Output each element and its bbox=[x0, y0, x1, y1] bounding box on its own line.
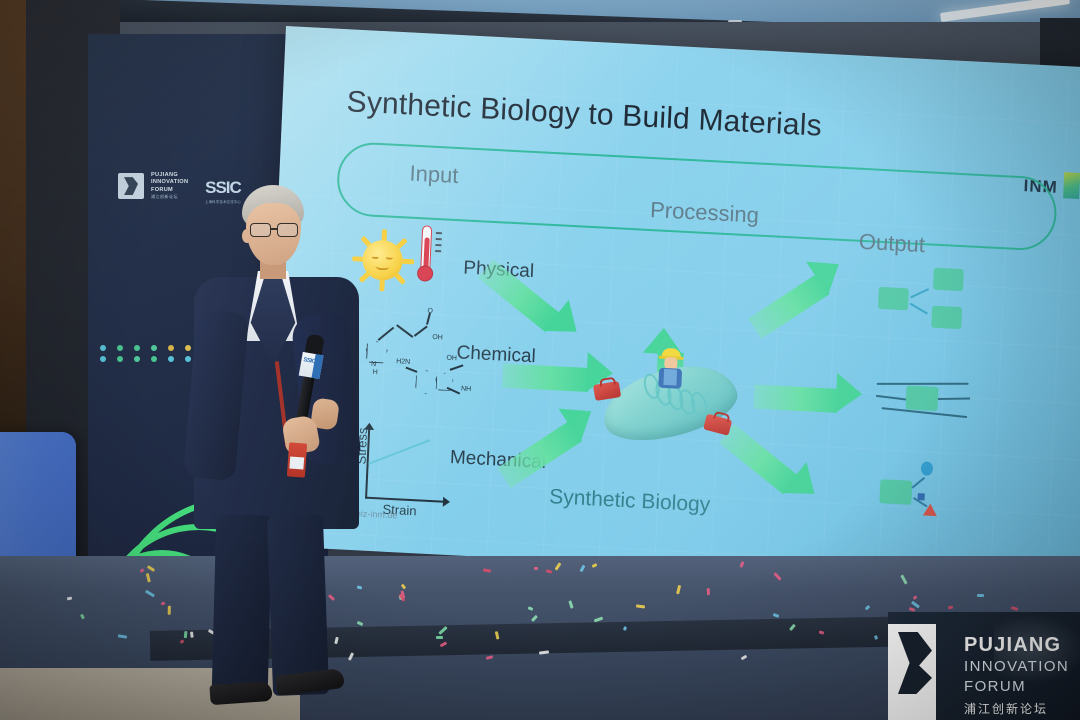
corner-logo-line-1: PUJIANG bbox=[964, 634, 1061, 657]
thermometer-icon bbox=[415, 225, 438, 288]
decor-dot bbox=[151, 345, 157, 351]
pujiang-mark-icon bbox=[118, 173, 144, 199]
pipeline-label-output: Output bbox=[858, 229, 925, 258]
name-badge bbox=[287, 442, 307, 477]
inm-logo-mark-icon bbox=[1063, 172, 1080, 199]
projection-screen: Synthetic Biology to Build Materials INM… bbox=[263, 26, 1080, 588]
presentation-scene: PUJIANG INNOVATION FORUM 浦江创新论坛 SSIC 上海科… bbox=[0, 0, 1080, 720]
wall-logo-pujiang-left: PUJIANG INNOVATION FORUM 浦江创新论坛 bbox=[118, 172, 188, 200]
decor-dot bbox=[117, 356, 123, 362]
output-icon-nodes bbox=[879, 459, 961, 521]
pipeline-label-processing: Processing bbox=[650, 197, 760, 229]
worker-figure-icon bbox=[654, 347, 686, 391]
eyeglasses-icon bbox=[250, 223, 302, 237]
corner-logo-line-3: FORUM bbox=[964, 678, 1026, 695]
decor-dot bbox=[100, 356, 106, 362]
confetti-piece bbox=[436, 636, 443, 639]
pujiang-forum-corner-logo: PUJIANG INNOVATION FORUM 浦江创新论坛 bbox=[888, 612, 1080, 720]
speaker-person: SSIC bbox=[180, 185, 370, 685]
mitochondria-worker-icon bbox=[595, 343, 750, 459]
slide-surface: Synthetic Biology to Build Materials INM… bbox=[263, 26, 1080, 588]
decor-dot bbox=[134, 356, 140, 362]
decor-dot bbox=[151, 356, 157, 362]
confetti-piece bbox=[977, 594, 984, 597]
toolbox-icon-2 bbox=[703, 414, 732, 436]
output-icon-flow bbox=[875, 375, 971, 420]
pujiang-line-1: PUJIANG bbox=[151, 172, 188, 179]
confetti-piece bbox=[707, 588, 710, 595]
output-icon-branching bbox=[877, 265, 968, 331]
corner-logo-chinese: 浦江创新论坛 bbox=[964, 700, 1048, 717]
decor-dot bbox=[168, 356, 174, 362]
decor-dot bbox=[100, 345, 106, 351]
corner-logo-line-2: INNOVATION bbox=[964, 658, 1069, 675]
pipeline-label-input: Input bbox=[409, 161, 459, 189]
decor-dot bbox=[117, 345, 123, 351]
decor-dot bbox=[168, 345, 174, 351]
confetti-piece bbox=[167, 606, 170, 615]
wood-trim bbox=[0, 0, 26, 470]
decor-dot bbox=[134, 345, 140, 351]
